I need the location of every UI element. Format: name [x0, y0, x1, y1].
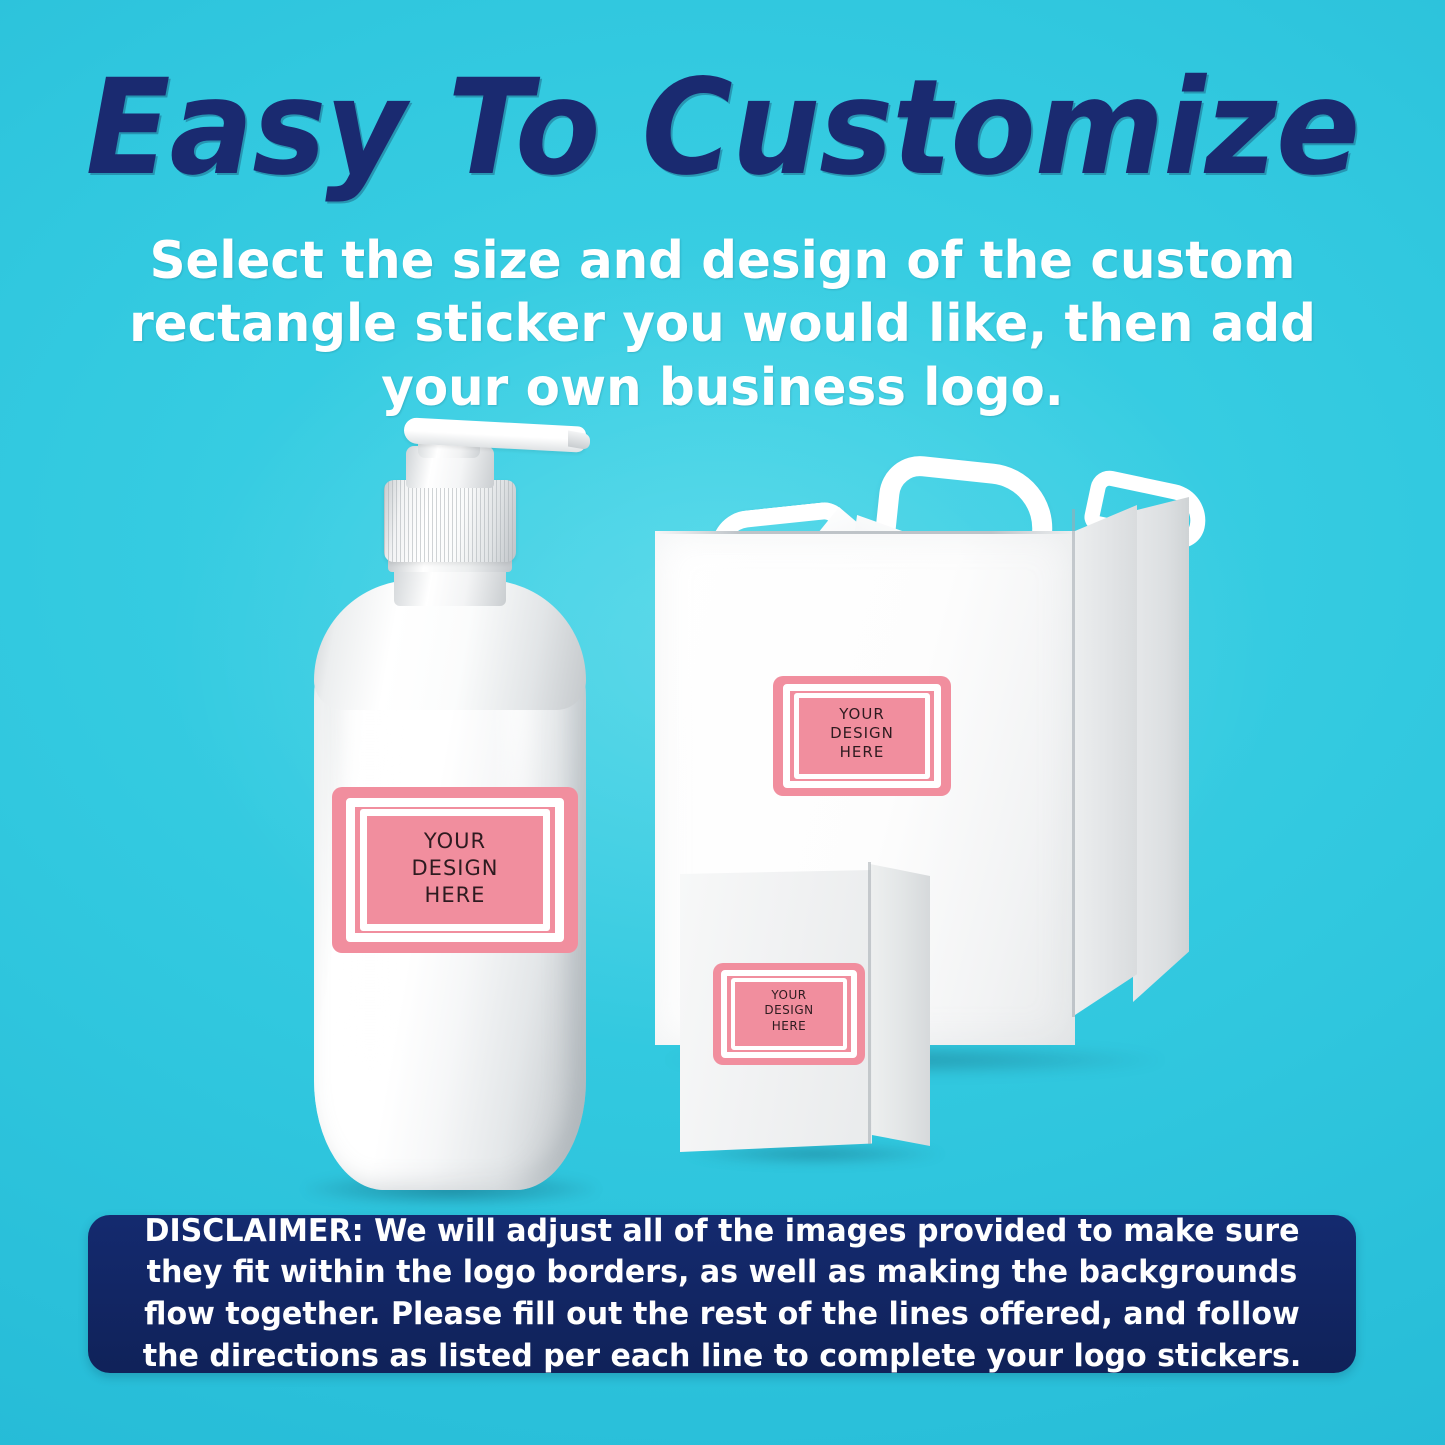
- sticker-line-3: HERE: [773, 743, 951, 762]
- sticker-on-gift-box[interactable]: YOUR DESIGN HERE: [773, 676, 951, 796]
- sticker-line-1: YOUR: [713, 988, 865, 1003]
- sticker-text: YOUR DESIGN HERE: [713, 988, 865, 1034]
- sticker-line-2: DESIGN: [773, 724, 951, 743]
- disclaimer-box: DISCLAIMER: We will adjust all of the im…: [88, 1215, 1356, 1373]
- sticker-text: YOUR DESIGN HERE: [332, 828, 578, 909]
- sticker-text: YOUR DESIGN HERE: [773, 705, 951, 763]
- sticker-line-3: HERE: [332, 882, 578, 909]
- product-mockup-scene: [0, 380, 1445, 1190]
- page-title: Easy To Customize: [43, 62, 1401, 194]
- gift-box-front-edge: [1072, 509, 1075, 1017]
- small-box-side-panel: [870, 862, 930, 1146]
- gift-box-side-panel: [1075, 505, 1137, 1015]
- sticker-on-bottle[interactable]: YOUR DESIGN HERE: [332, 787, 578, 953]
- sticker-line-1: YOUR: [773, 705, 951, 724]
- sticker-line-2: DESIGN: [332, 855, 578, 882]
- bottle-cap: [384, 480, 516, 562]
- sticker-on-small-box[interactable]: YOUR DESIGN HERE: [713, 963, 865, 1065]
- disclaimer-lead: DISCLAIMER:: [144, 1213, 363, 1249]
- sticker-line-1: YOUR: [332, 828, 578, 855]
- header: Easy To Customize Select the size and de…: [0, 62, 1445, 420]
- small-box-front-edge: [868, 862, 871, 1144]
- sticker-line-2: DESIGN: [713, 1003, 865, 1018]
- gift-box-back-side: [1133, 497, 1189, 1002]
- page-subtitle: Select the size and design of the custom…: [29, 230, 1416, 420]
- gift-box-lid-line: [655, 531, 1075, 534]
- disclaimer-text: DISCLAIMER: We will adjust all of the im…: [107, 1211, 1337, 1377]
- sticker-line-3: HERE: [713, 1019, 865, 1034]
